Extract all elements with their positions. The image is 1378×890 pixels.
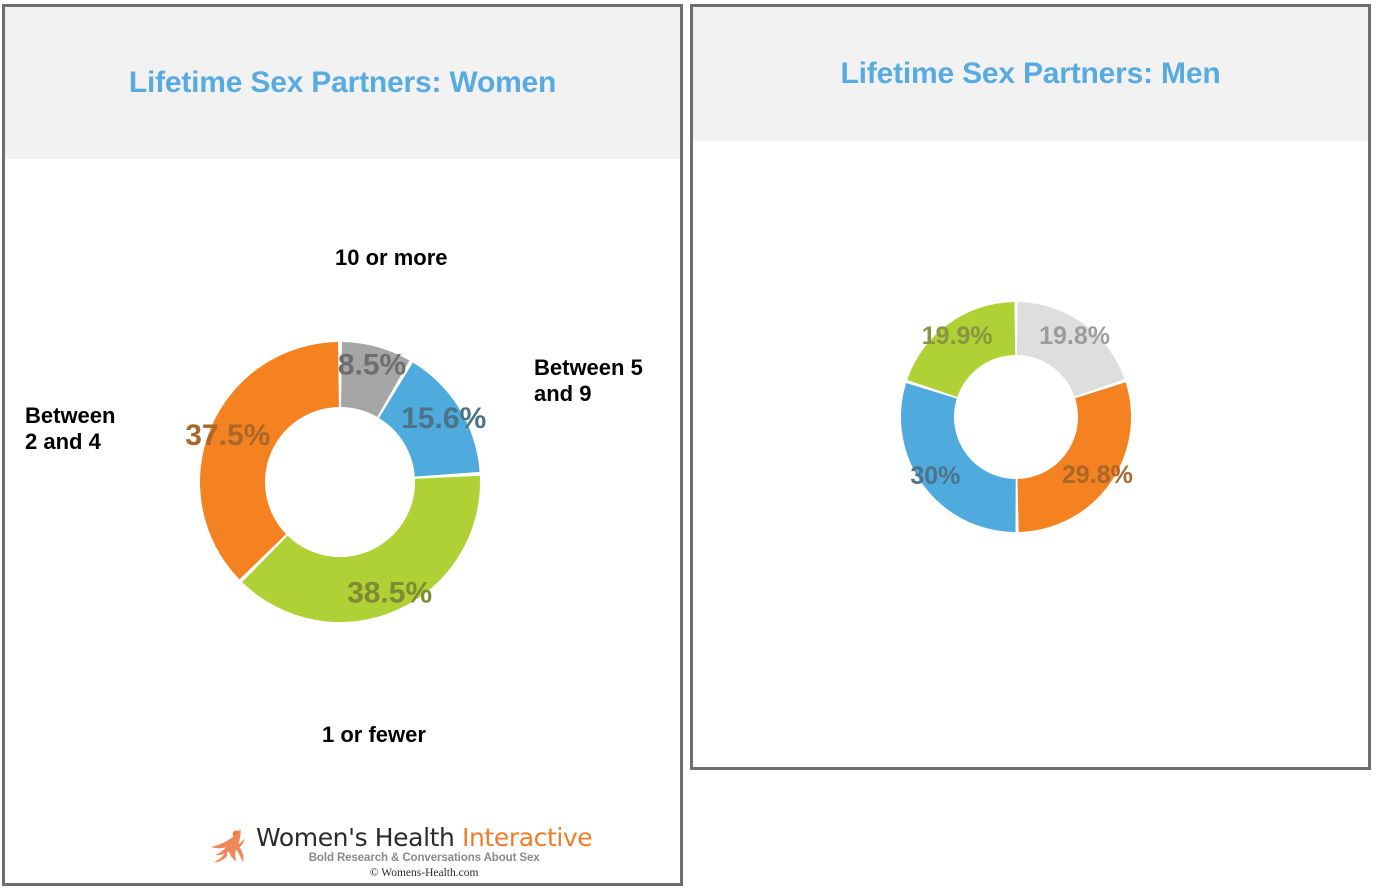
logo-text-block-women: Women's Health Interactive Bold Research…	[256, 825, 592, 879]
donut-slice	[901, 383, 1016, 532]
donut-value-label: 19.8%	[1039, 322, 1110, 350]
panel-header-women: Lifetime Sex Partners: Women	[5, 7, 680, 159]
donut-chart-men: 19.8%29.8%30%19.9%	[733, 127, 1333, 647]
donut-slice	[200, 342, 339, 579]
logo-wordmark-women: Women's Health Interactive	[256, 825, 592, 851]
logo-tagline-women: Bold Research & Conversations About Sex	[309, 852, 540, 864]
donut-slices-women	[200, 342, 480, 622]
donut-svg-men: 19.8%29.8%30%19.9%	[733, 127, 1333, 647]
slice-label-one-or-fewer-women: 1 or fewer	[322, 722, 426, 748]
donut-value-label: 30%	[910, 462, 960, 490]
page-title-men: Lifetime Sex Partners: Men	[841, 57, 1221, 91]
logo-copyright-women: © Womens-Health.com	[370, 867, 479, 879]
donut-value-label: 19.9%	[922, 322, 993, 350]
donut-value-label: 38.5%	[347, 576, 432, 609]
slice-label-two-to-four-women: Between 2 and 4	[25, 403, 115, 455]
brand-logo-women: Women's Health Interactive Bold Research…	[210, 825, 592, 879]
slice-label-ten-or-more-women: 10 or more	[335, 245, 448, 271]
logo-name-dark-women: Women's Health	[256, 823, 462, 852]
logo-name-orange-women: Interactive	[462, 823, 592, 852]
running-woman-icon	[210, 827, 250, 871]
chart-panel-men: Lifetime Sex Partners: Men 19.8%29.8%30%…	[690, 4, 1371, 770]
donut-value-label: 29.8%	[1062, 461, 1133, 489]
donut-value-label: 15.6%	[401, 402, 486, 435]
page-title-women: Lifetime Sex Partners: Women	[129, 66, 556, 100]
panel-header-men: Lifetime Sex Partners: Men	[693, 7, 1368, 141]
slice-label-five-to-nine-women: Between 5 and 9	[534, 355, 643, 407]
donut-slice	[1017, 382, 1131, 532]
donut-value-label: 37.5%	[185, 419, 270, 452]
donut-value-label: 8.5%	[338, 348, 406, 381]
chart-panel-women: Lifetime Sex Partners: Women 8.5%15.6%38…	[2, 4, 683, 886]
